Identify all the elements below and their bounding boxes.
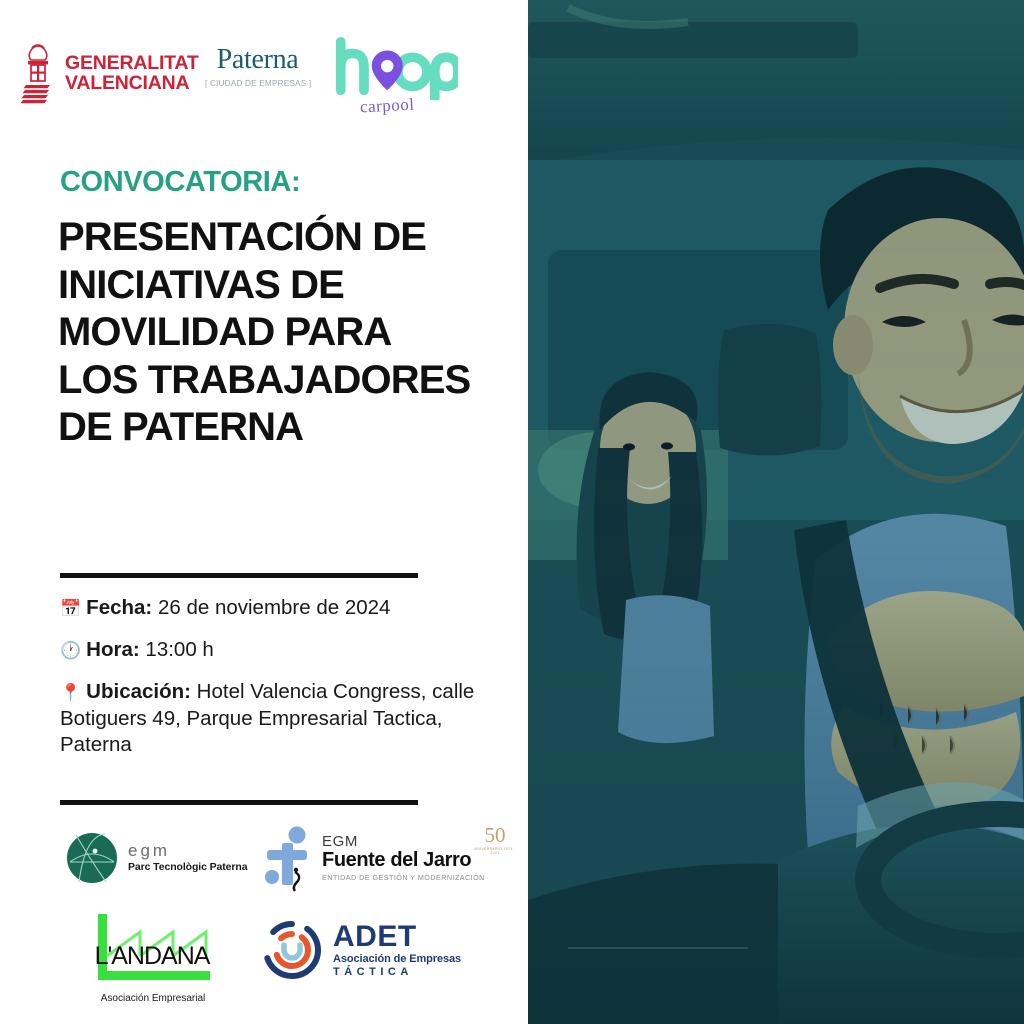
generalitat-wordmark: GENERALITAT VALENCIANA bbox=[65, 53, 199, 93]
detail-row-hora: 🕐Hora: 13:00 h bbox=[60, 637, 480, 663]
generalitat-crest-icon bbox=[20, 42, 56, 104]
partner-logo-strip: GENERALITAT VALENCIANA Paterna [ CIUDAD … bbox=[0, 34, 528, 118]
logo-landana: L'ANDANA Asociación Empresarial bbox=[88, 912, 218, 1004]
logo-hoop-carpool: carpool bbox=[332, 36, 462, 122]
hero-photo bbox=[528, 0, 1024, 1024]
poster-root: GENERALITAT VALENCIANA Paterna [ CIUDAD … bbox=[0, 0, 1024, 1024]
sponsor-row-1: egm Parc Tecnològic Paterna bbox=[0, 826, 528, 902]
logo-paterna: Paterna [ CIUDAD DE EMPRESAS ] bbox=[205, 46, 310, 88]
sponsor-logos: egm Parc Tecnològic Paterna bbox=[0, 826, 528, 1016]
adet-line2: Asociación de Empresas bbox=[333, 954, 461, 966]
detail-value-hora: 13:00 h bbox=[145, 638, 213, 661]
paterna-wordmark: Paterna bbox=[205, 46, 310, 74]
calendar-icon: 📅 bbox=[60, 599, 81, 618]
detail-label-fecha: Fecha: bbox=[86, 596, 152, 619]
divider-top bbox=[60, 573, 418, 578]
adet-title: ADET bbox=[333, 921, 461, 953]
photo-color-tint bbox=[528, 0, 1024, 1024]
egm-parc-abbr: egm bbox=[128, 842, 247, 861]
generalitat-line1: GENERALITAT bbox=[65, 53, 199, 73]
landana-subtitle: Asociación Empresarial bbox=[88, 993, 218, 1004]
detail-row-fecha: 📅Fecha: 26 de noviembre de 2024 bbox=[60, 595, 480, 621]
logo-adet: ADET Asociación de Empresas TÁCTICA bbox=[262, 920, 461, 980]
detail-row-ubicacion: 📍Ubicación: Hotel Valencia Congress, cal… bbox=[60, 679, 480, 758]
adet-line3: TÁCTICA bbox=[333, 967, 461, 979]
location-pin-icon: 📍 bbox=[60, 683, 81, 702]
fdj-line2: Fuente del Jarro bbox=[322, 849, 485, 871]
egm-parc-name: Parc Tecnològic Paterna bbox=[128, 862, 247, 874]
fdj-anniversary-badge: 50 ANIVERSARIO 1971 - 2021 bbox=[472, 826, 518, 855]
detail-label-ubicacion: Ubicación: bbox=[86, 680, 191, 703]
sponsor-row-2: L'ANDANA Asociación Empresarial bbox=[0, 908, 528, 1004]
paterna-tagline: [ CIUDAD DE EMPRESAS ] bbox=[205, 79, 310, 88]
landana-mark-icon: L'ANDANA bbox=[88, 912, 218, 991]
svg-text:L'ANDANA: L'ANDANA bbox=[95, 942, 211, 970]
egm-globe-icon bbox=[66, 832, 118, 884]
clock-icon: 🕐 bbox=[60, 641, 81, 660]
fuente-del-jarro-mark-icon bbox=[264, 826, 316, 892]
left-content-panel: GENERALITAT VALENCIANA Paterna [ CIUDAD … bbox=[0, 0, 528, 1024]
adet-mark-icon bbox=[262, 920, 322, 980]
generalitat-line2: VALENCIANA bbox=[65, 73, 199, 93]
hoop-carpool-label: carpool bbox=[360, 95, 415, 118]
logo-egm-parc-tecnologic: egm Parc Tecnològic Paterna bbox=[66, 832, 247, 884]
fdj-badge-number: 50 bbox=[472, 826, 518, 845]
detail-label-hora: Hora: bbox=[86, 638, 140, 661]
logo-generalitat-valenciana: GENERALITAT VALENCIANA bbox=[20, 42, 199, 104]
logo-egm-fuente-del-jarro: EGM Fuente del Jarro ENTIDAD DE GESTIÓN … bbox=[264, 826, 485, 892]
event-details: 📅Fecha: 26 de noviembre de 2024 🕐Hora: 1… bbox=[60, 595, 480, 758]
fdj-badge-text: ANIVERSARIO 1971 - 2021 bbox=[472, 847, 518, 855]
fuente-del-jarro-wordmark: EGM Fuente del Jarro ENTIDAD DE GESTIÓN … bbox=[322, 826, 485, 882]
fdj-line3: ENTIDAD DE GESTIÓN Y MODERNIZACIÓN bbox=[322, 873, 485, 882]
adet-wordmark: ADET Asociación de Empresas TÁCTICA bbox=[333, 921, 461, 979]
divider-bottom bbox=[60, 800, 418, 805]
detail-value-fecha: 26 de noviembre de 2024 bbox=[158, 596, 391, 619]
kicker-label: CONVOCATORIA: bbox=[60, 166, 300, 199]
egm-parc-wordmark: egm Parc Tecnològic Paterna bbox=[128, 842, 247, 873]
fdj-line1: EGM bbox=[322, 834, 485, 849]
page-title: PRESENTACIÓN DE INICIATIVAS DE MOVILIDAD… bbox=[58, 214, 478, 452]
